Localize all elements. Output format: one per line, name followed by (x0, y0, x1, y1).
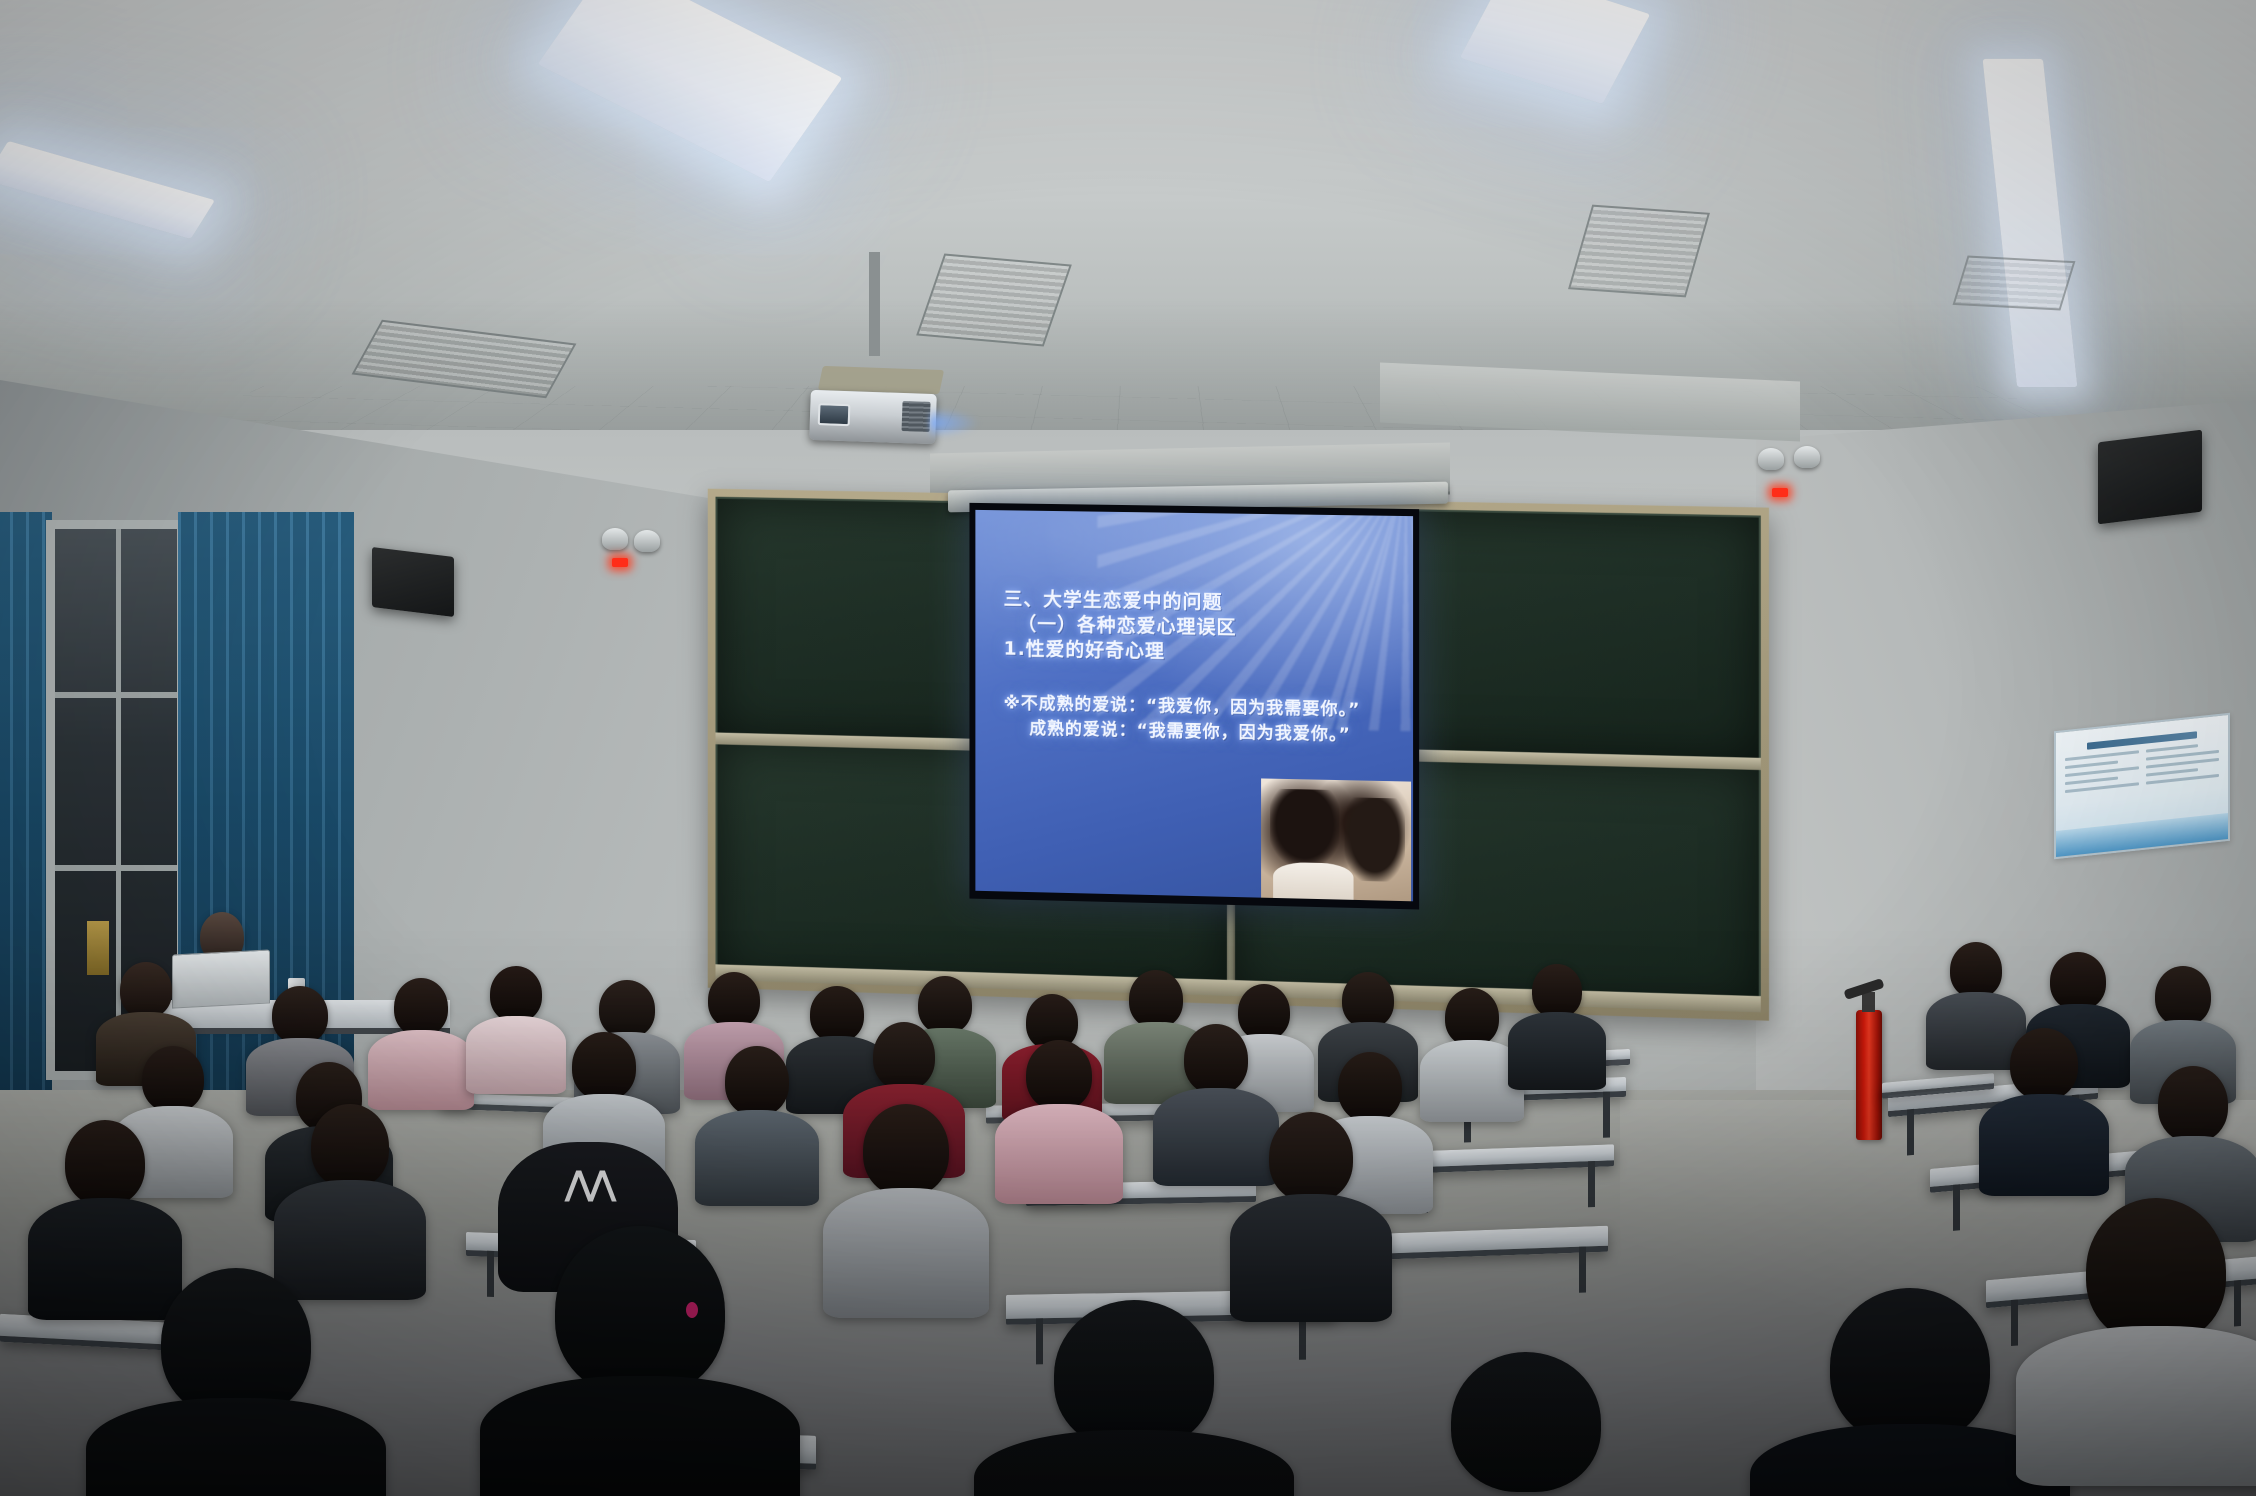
student-head (2050, 952, 2106, 1010)
student-head (120, 962, 172, 1018)
projector-vent-icon (902, 401, 931, 432)
student (1984, 1028, 2104, 1184)
student-head (1026, 1040, 1092, 1110)
student (1236, 1112, 1386, 1308)
student-head (394, 978, 448, 1036)
student-head (2010, 1028, 2078, 1100)
student-body (823, 1188, 989, 1318)
student-head (272, 986, 328, 1044)
student-head (1950, 942, 2002, 998)
wall-speaker-right-icon (2098, 430, 2202, 525)
student-body (1508, 1012, 1606, 1090)
hair-tie (686, 1302, 698, 1318)
student-head (161, 1268, 311, 1418)
poster-text-line (2065, 761, 2118, 770)
student-body (480, 1376, 800, 1496)
slide-photo-figure (1345, 797, 1405, 882)
projector-mount (869, 252, 880, 356)
projection-screen: 三、大学生恋爱中的问题 （一）各种恋爱心理误区 1.性爱的好奇心理 ※不成熟的爱… (969, 503, 1419, 910)
student-head (725, 1046, 789, 1116)
desk-leg (1579, 1246, 1586, 1292)
student-body (86, 1398, 386, 1496)
poster-text-line (2146, 744, 2199, 753)
student (1760, 1288, 2060, 1496)
student (984, 1300, 1284, 1496)
desk-leg (1588, 1161, 1595, 1207)
student (700, 1046, 814, 1194)
poster-columns (2056, 741, 2228, 799)
poster-text-line (2065, 777, 2118, 786)
student (2026, 1198, 2256, 1458)
projector-lens-icon (818, 403, 851, 426)
wall-speaker-left-icon (372, 547, 454, 617)
poster-text-line (2065, 782, 2139, 793)
student (1000, 1040, 1118, 1192)
student-head (1445, 988, 1499, 1046)
spotlight-icon (1794, 446, 1820, 468)
spotlight-icon (1758, 448, 1784, 470)
spotlight-led-indicator (1772, 488, 1788, 497)
blue-curtain (0, 512, 52, 1152)
student-head (311, 1104, 389, 1188)
desk-leg (1603, 1091, 1610, 1137)
student-head (2155, 966, 2211, 1026)
slide-photo-figure (1273, 862, 1354, 900)
extinguisher-neck (1862, 992, 1875, 1012)
student-head (1451, 1352, 1601, 1492)
ceiling-vent-icon (1953, 256, 2076, 311)
student-body (1979, 1094, 2109, 1196)
student (96, 1268, 376, 1496)
student-head (863, 1104, 949, 1196)
slide-photo-figure (1270, 788, 1339, 866)
student-body (2016, 1326, 2256, 1486)
student-head (599, 980, 655, 1038)
student-head (142, 1046, 204, 1112)
student (280, 1104, 420, 1286)
poster-text-line (2065, 750, 2139, 761)
spotlight-icon (602, 528, 628, 550)
student-head (2086, 1198, 2226, 1344)
ceiling-vent-icon (1568, 205, 1710, 298)
student-body (695, 1110, 819, 1206)
spotlight-icon (634, 530, 660, 552)
student-head (572, 1032, 636, 1100)
student-head (2158, 1066, 2228, 1142)
student-head (1184, 1024, 1248, 1094)
student (1376, 1352, 1676, 1496)
student-head (873, 1022, 935, 1090)
student (1424, 988, 1520, 1112)
classroom-photo: 三、大学生恋爱中的问题 （一）各种恋爱心理误区 1.性爱的好奇心理 ※不成熟的爱… (0, 0, 2256, 1496)
student-head (1342, 972, 1394, 1028)
student-head (708, 972, 760, 1028)
student-head (65, 1120, 145, 1206)
student-head (555, 1226, 725, 1396)
kappa-logo: ⋀⋀ (564, 1164, 611, 1204)
projector-icon (809, 390, 937, 444)
poster-text-line (2065, 766, 2139, 777)
student-body (974, 1430, 1294, 1496)
student (830, 1104, 982, 1304)
student (1512, 964, 1602, 1082)
desk-leg (1953, 1184, 1960, 1231)
poster-column (2065, 750, 2139, 798)
student (490, 1226, 790, 1496)
fire-extinguisher-icon (1856, 1010, 1882, 1140)
presentation-slide: 三、大学生恋爱中的问题 （一）各种恋爱心理误区 1.性爱的好奇心理 ※不成熟的爱… (975, 510, 1413, 901)
slide-body: ※不成熟的爱说：“我爱你，因为我需要你。” 成熟的爱说：“我需要你，因为我爱你。… (1004, 692, 1396, 749)
student-body (995, 1104, 1123, 1204)
student-head (1532, 964, 1582, 1018)
slide-text-block: 三、大学生恋爱中的问题 （一）各种恋爱心理误区 1.性爱的好奇心理 ※不成熟的爱… (1004, 587, 1396, 749)
poster-text-line (2146, 774, 2220, 785)
student-head (490, 966, 542, 1022)
desk-leg (1907, 1109, 1914, 1156)
poster-column (2146, 742, 2220, 790)
poster-text-line (2146, 768, 2199, 777)
student-head (1269, 1112, 1353, 1202)
student-head (1054, 1300, 1214, 1450)
student-head (1830, 1288, 1990, 1444)
wall-notice-board (2054, 713, 2230, 859)
poster-text-line (2146, 758, 2220, 769)
slide-photo (1261, 779, 1411, 902)
projector-beam (930, 408, 980, 438)
spotlight-led-indicator (612, 558, 628, 567)
student-head (1129, 970, 1183, 1028)
